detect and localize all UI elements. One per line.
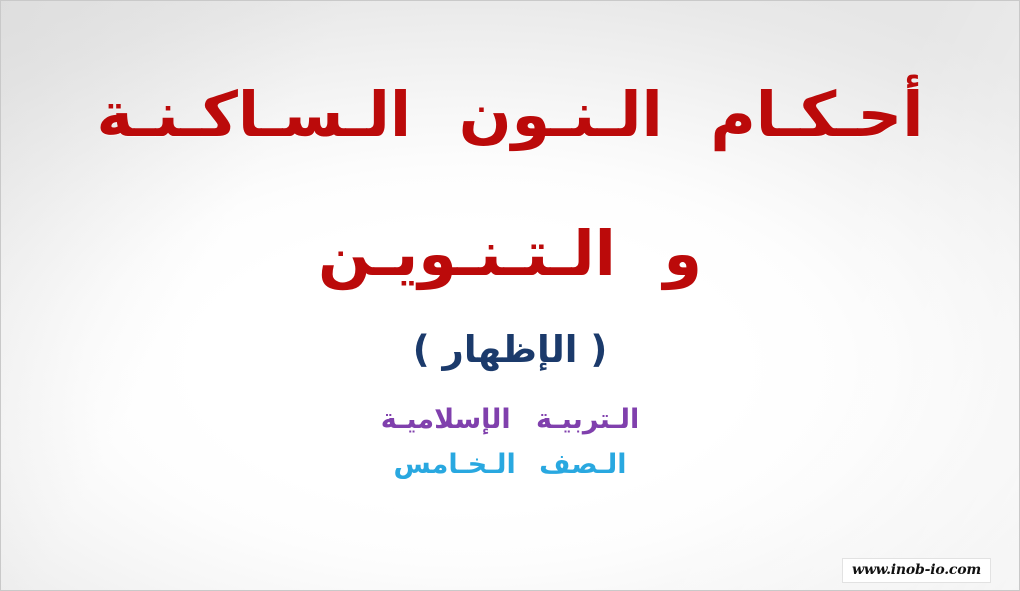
watermark-badge: www.inob-io.com xyxy=(842,558,991,583)
slide-content: أحـكـام الـنـون الـسـاكـنـة و الـتـنـويـ… xyxy=(1,1,1019,590)
slide-title-line-2: و الـتـنـويـن xyxy=(1,223,1019,285)
watermark-url-text: www.inob-io.com xyxy=(852,562,981,578)
course-name: الـتربيـة الإسلاميـة xyxy=(1,406,1019,433)
slide-title-line-1: أحـكـام الـنـون الـسـاكـنـة xyxy=(1,84,1019,146)
grade-level: الـصف الـخـامس xyxy=(1,451,1019,478)
presentation-slide: أحـكـام الـنـون الـسـاكـنـة و الـتـنـويـ… xyxy=(0,0,1020,591)
slide-subtitle: ( الإظهار ) xyxy=(1,331,1019,368)
